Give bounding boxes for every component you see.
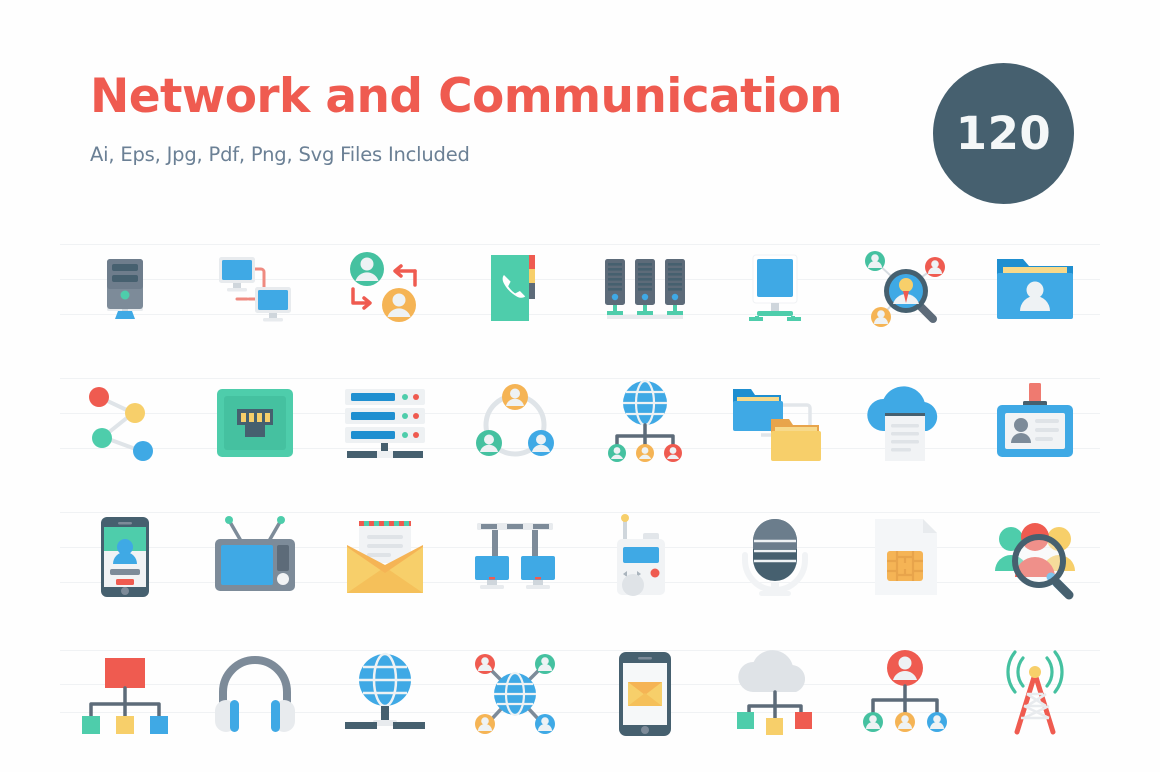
globe-network-icon[interactable] [337,646,433,742]
id-badge-icon[interactable] [987,375,1083,471]
header: Network and Communication Ai, Eps, Jpg, … [90,72,890,166]
user-search-icon[interactable] [987,509,1083,605]
microphone-icon[interactable] [727,509,823,605]
server-stack-icon[interactable] [337,375,433,471]
computer-tower-icon[interactable] [77,241,173,337]
icon-row-2 [0,356,1160,490]
phone-book-icon[interactable] [467,241,563,337]
airmail-envelope-icon[interactable] [337,509,433,605]
network-user-search-icon[interactable] [857,241,953,337]
shared-folders-icon[interactable] [727,375,823,471]
social-network-globe-icon[interactable] [467,646,563,742]
monitor-network-icon[interactable] [727,241,823,337]
icon-row-3 [0,490,1160,624]
sim-card-icon[interactable] [857,509,953,605]
node-graph-icon[interactable] [77,375,173,471]
icon-row-1 [0,222,1160,356]
headphones-icon[interactable] [207,646,303,742]
user-exchange-icon[interactable] [337,241,433,337]
television-icon[interactable] [207,509,303,605]
sitemap-hierarchy-icon[interactable] [77,646,173,742]
icon-grid [0,222,1160,764]
lan-computers-icon[interactable] [467,509,563,605]
user-folder-icon[interactable] [987,241,1083,337]
cloud-document-icon[interactable] [857,375,953,471]
server-rack-icon[interactable] [597,241,693,337]
page-title: Network and Communication [90,72,890,123]
mobile-profile-icon[interactable] [77,509,173,605]
ethernet-port-icon[interactable] [207,375,303,471]
global-network-users-icon[interactable] [597,375,693,471]
icon-row-4 [0,624,1160,764]
user-hierarchy-icon[interactable] [857,646,953,742]
mobile-mail-icon[interactable] [597,646,693,742]
signal-tower-icon[interactable] [987,646,1083,742]
page-subtitle: Ai, Eps, Jpg, Pdf, Png, Svg Files Includ… [90,143,890,166]
icon-set-page: Network and Communication Ai, Eps, Jpg, … [0,0,1160,772]
walkie-talkie-icon[interactable] [597,509,693,605]
icon-count-value: 120 [956,107,1051,160]
icon-count-badge: 120 [933,63,1074,204]
cloud-network-icon[interactable] [727,646,823,742]
user-group-circle-icon[interactable] [467,375,563,471]
connected-monitors-icon[interactable] [207,241,303,337]
